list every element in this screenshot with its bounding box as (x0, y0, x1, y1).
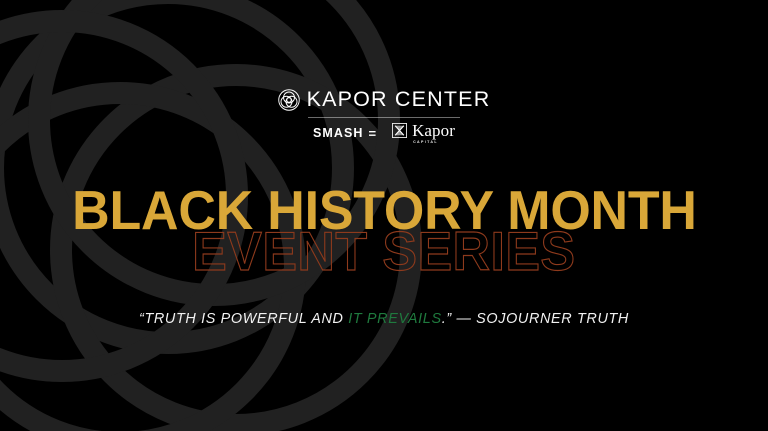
headline-block: BLACK HISTORY MONTH EVENT SERIES (0, 183, 768, 279)
kapor-circles-mark-icon (278, 89, 300, 111)
kapor-capital-subtitle: CAPITAL (413, 141, 438, 145)
quote-open-segment: “TRUTH IS POWERFUL AND (139, 311, 348, 327)
kapor-capital-wordmark: Kapor (412, 122, 455, 139)
quote-line: “TRUTH IS POWERFUL AND IT PREVAILS.” — S… (0, 312, 768, 326)
quote-close-segment: .” — SOJOURNER TRUTH (442, 311, 629, 327)
brand-lockup: KAPOR CENTER SMASH = Kapor CAPITAL (0, 88, 768, 144)
quote-highlight-text: IT PREVAILS (348, 311, 442, 327)
equals-symbol: = (368, 127, 376, 140)
kapor-capital-bowtie-icon (392, 123, 407, 138)
partner-lockup: SMASH = Kapor CAPITAL (313, 122, 455, 144)
brand-divider (308, 117, 460, 118)
black-history-month-poster: KAPOR CENTER SMASH = Kapor CAPITAL BLACK… (0, 0, 768, 431)
motif-circle-1 (0, 0, 343, 343)
smash-wordmark: SMASH (313, 127, 363, 140)
kapor-center-wordmark-text: KAPOR CENTER (307, 89, 491, 111)
kapor-capital-lockup: Kapor CAPITAL (392, 122, 455, 145)
kapor-center-lockup: KAPOR CENTER (278, 88, 491, 112)
headline-primary: BLACK HISTORY MONTH (72, 183, 697, 238)
kapor-capital-text-block: Kapor CAPITAL (412, 122, 455, 145)
